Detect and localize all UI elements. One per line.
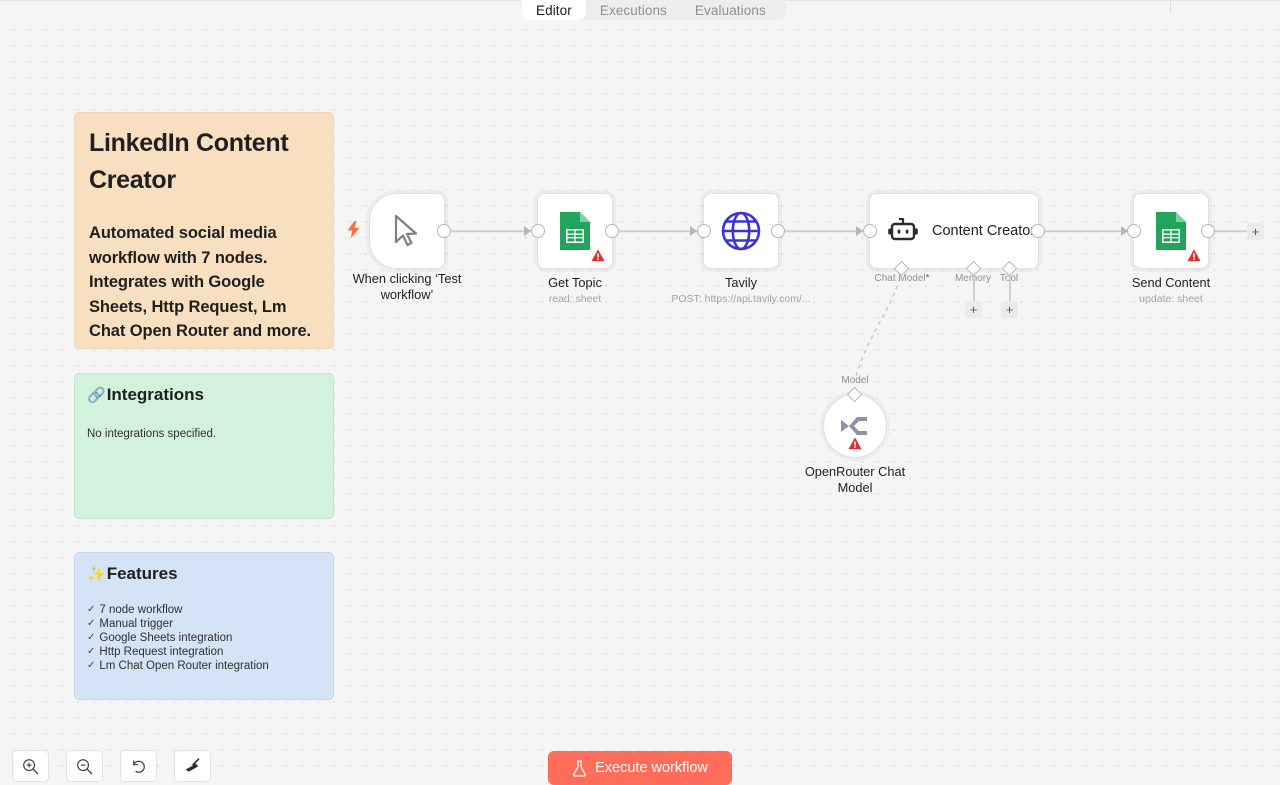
connection-contentcreator-to-sendcontent <box>1043 230 1130 232</box>
globe-icon <box>720 210 762 252</box>
check-icon: ✓ <box>87 603 95 617</box>
output-port[interactable] <box>771 224 785 238</box>
node-label: When clicking ‘Test workflow’ <box>332 271 482 303</box>
list-item-label: Manual trigger <box>99 617 173 631</box>
arrow-icon <box>856 226 863 236</box>
check-icon: ✓ <box>87 617 95 631</box>
tavily-node-box[interactable] <box>703 193 779 269</box>
connection-tavily-to-contentcreator <box>779 230 865 232</box>
check-icon: ✓ <box>87 645 95 659</box>
content-creator-node-box[interactable]: Content Creator <box>869 193 1039 269</box>
sticky-note-features[interactable]: ✨ Features ✓ 7 node workflow ✓ Manual tr… <box>74 552 334 700</box>
node-label: Send Content <box>1132 275 1210 291</box>
node-content-creator[interactable]: Content Creator Chat Model* Memory + Too… <box>869 193 1039 269</box>
google-sheets-icon <box>558 210 592 252</box>
warning-icon <box>848 437 862 450</box>
undo-arrow-icon <box>130 758 147 775</box>
list-item: ✓ Lm Chat Open Router integration <box>87 659 321 673</box>
list-item-label: Google Sheets integration <box>99 631 232 645</box>
get-topic-node-box[interactable] <box>537 193 613 269</box>
tab-editor[interactable]: Editor <box>522 0 586 20</box>
arrow-icon <box>524 226 531 236</box>
list-item: ✓ Http Request integration <box>87 645 321 659</box>
input-port[interactable] <box>1127 224 1141 238</box>
output-port[interactable] <box>605 224 619 238</box>
integrations-heading: 🔗 Integrations <box>87 384 321 406</box>
sticky-note-integrations[interactable]: 🔗 Integrations No integrations specified… <box>74 373 334 519</box>
sticky-title-heading: LinkedIn Content Creator <box>89 125 319 199</box>
workflow-canvas[interactable]: LinkedIn Content Creator Automated socia… <box>0 0 1280 780</box>
trigger-node-box[interactable] <box>369 193 445 269</box>
node-send-content[interactable]: Send Content update: sheet <box>1133 193 1209 269</box>
zoom-in-icon <box>22 758 39 775</box>
list-item: ✓ Google Sheets integration <box>87 631 321 645</box>
openrouter-node-box[interactable] <box>823 394 887 458</box>
zoom-out-icon <box>76 758 93 775</box>
features-list: ✓ 7 node workflow ✓ Manual trigger ✓ Goo… <box>87 603 321 673</box>
node-subtitle: POST: https://api.tavily.com/... <box>671 293 810 305</box>
add-node-button[interactable]: + <box>1247 223 1264 240</box>
sticky-note-title[interactable]: LinkedIn Content Creator Automated socia… <box>74 112 334 349</box>
warning-icon <box>591 249 605 262</box>
sticky-title-body: Automated social media workflow with 7 n… <box>89 221 319 344</box>
editor-tabs: Editor Executions Evaluations <box>522 0 786 20</box>
integrations-body: No integrations specified. <box>87 426 321 442</box>
tidy-up-button[interactable] <box>174 750 211 782</box>
flask-icon <box>572 760 587 777</box>
node-label: OpenRouter Chat Model <box>795 464 915 496</box>
output-port[interactable] <box>437 224 451 238</box>
input-port[interactable] <box>697 224 711 238</box>
zoom-out-button[interactable] <box>66 750 103 782</box>
link-icon: 🔗 <box>87 388 106 403</box>
list-item-label: Lm Chat Open Router integration <box>99 659 268 673</box>
list-item-label: Http Request integration <box>99 645 223 659</box>
sparkles-icon: ✨ <box>87 567 106 582</box>
connection-sendcontent-to-plus <box>1211 230 1247 232</box>
warning-icon <box>1187 249 1201 262</box>
lightning-bolt-icon <box>347 221 360 243</box>
topbar-vertical-divider <box>1170 0 1171 14</box>
execute-workflow-label: Execute workflow <box>595 760 708 776</box>
input-port[interactable] <box>531 224 545 238</box>
node-label: Tavily <box>725 275 757 291</box>
node-subtitle: update: sheet <box>1139 293 1203 305</box>
reset-zoom-button[interactable] <box>120 750 157 782</box>
zoom-in-button[interactable] <box>12 750 49 782</box>
node-title: Content Creator <box>932 223 1035 239</box>
node-get-topic[interactable]: Get Topic read: sheet <box>537 193 613 269</box>
node-tavily[interactable]: Tavily POST: https://api.tavily.com/... <box>703 193 779 269</box>
check-icon: ✓ <box>87 659 95 673</box>
output-port[interactable] <box>1201 224 1215 238</box>
node-openrouter-chat-model[interactable]: Model OpenRouter Chat Model <box>823 394 887 458</box>
connection-gettopic-to-tavily <box>613 230 699 232</box>
robot-icon <box>888 218 918 244</box>
output-port[interactable] <box>1031 224 1045 238</box>
arrow-icon <box>690 226 697 236</box>
openrouter-port-label: Model <box>805 375 905 386</box>
openrouter-icon <box>837 413 873 439</box>
connection-trigger-to-gettopic <box>447 230 533 232</box>
list-item-label: 7 node workflow <box>99 603 182 617</box>
node-when-clicking-test-workflow[interactable]: When clicking ‘Test workflow’ <box>369 193 445 269</box>
integrations-heading-text: Integrations <box>107 384 204 406</box>
add-tool-button[interactable]: + <box>1001 301 1018 318</box>
mouse-cursor-icon <box>391 214 423 248</box>
node-subtitle: read: sheet <box>549 293 602 305</box>
send-content-node-box[interactable] <box>1133 193 1209 269</box>
list-item: ✓ Manual trigger <box>87 617 321 631</box>
check-icon: ✓ <box>87 631 95 645</box>
features-heading: ✨ Features <box>87 563 321 585</box>
node-label: Get Topic <box>548 275 602 291</box>
tab-executions[interactable]: Executions <box>586 0 681 20</box>
top-bar: Editor Executions Evaluations <box>0 0 1280 20</box>
broom-icon <box>184 757 202 775</box>
google-sheets-icon <box>1154 210 1188 252</box>
list-item: ✓ 7 node workflow <box>87 603 321 617</box>
add-memory-button[interactable]: + <box>965 301 982 318</box>
input-port[interactable] <box>863 224 877 238</box>
features-heading-text: Features <box>107 563 178 585</box>
tool-stem <box>1009 275 1011 301</box>
tab-evaluations[interactable]: Evaluations <box>681 0 780 20</box>
